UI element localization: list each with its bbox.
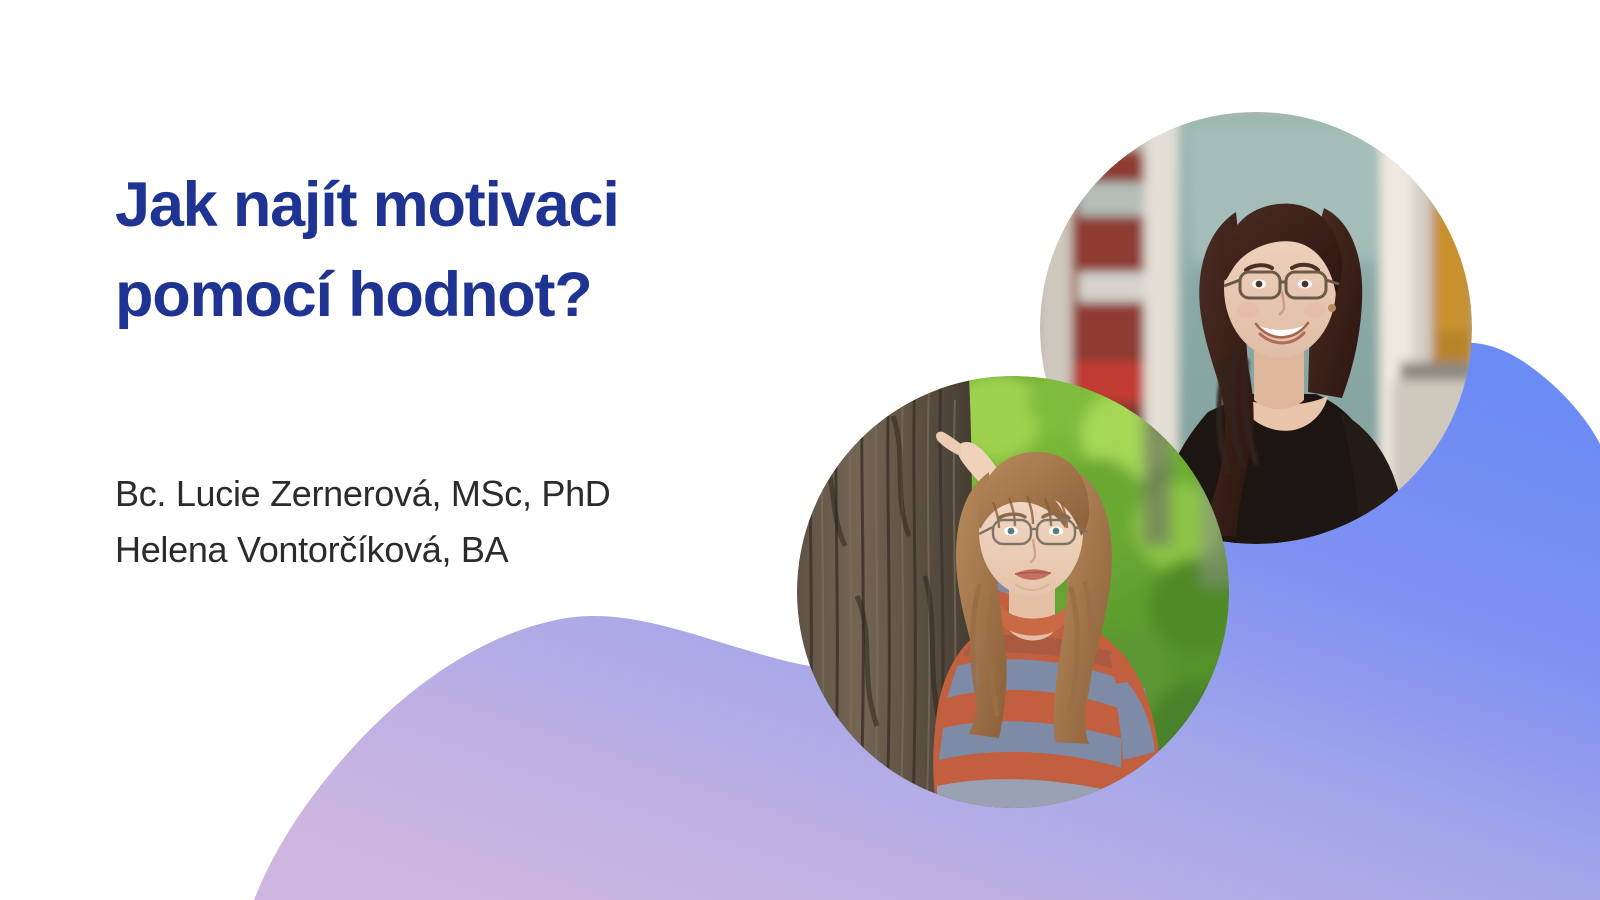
portrait-photo-helena-vontorcikova bbox=[797, 376, 1229, 808]
presentation-slide: Jak najít motivaci pomocí hodnot? Bc. Lu… bbox=[0, 0, 1600, 900]
presenter-list: Bc. Lucie Zernerová, MSc, PhD Helena Von… bbox=[115, 466, 855, 578]
presenter-name-2: Helena Vontorčíková, BA bbox=[115, 522, 855, 578]
presenter-name-1: Bc. Lucie Zernerová, MSc, PhD bbox=[115, 466, 855, 522]
portrait-bottom-image bbox=[797, 376, 1229, 808]
page-title: Jak najít motivaci pomocí hodnot? bbox=[115, 160, 855, 340]
title-block: Jak najít motivaci pomocí hodnot? bbox=[115, 160, 855, 340]
